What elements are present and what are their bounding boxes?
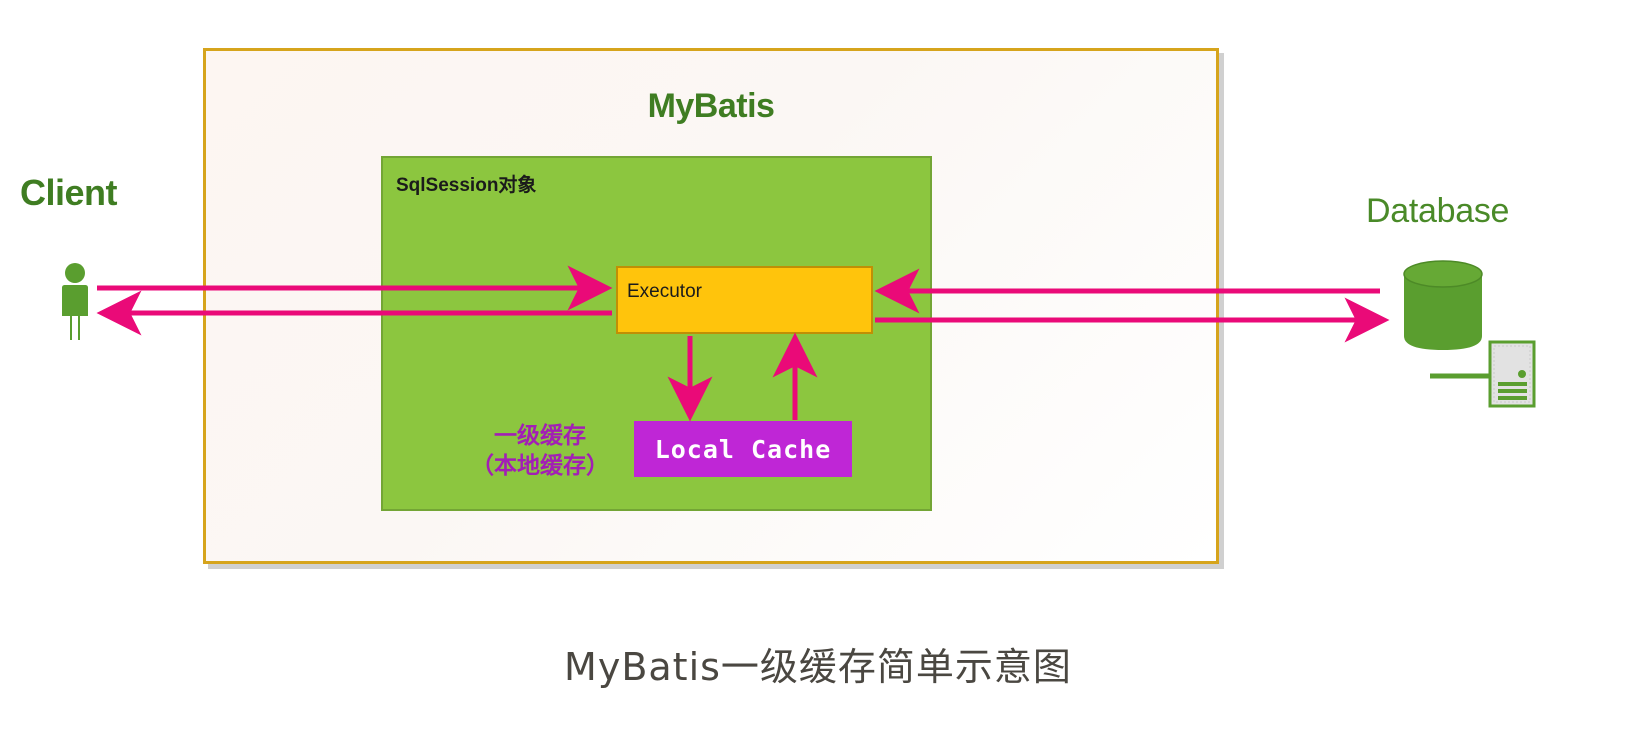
sqlsession-label: SqlSession对象 — [396, 170, 536, 197]
local-cache-label: Local Cache — [655, 435, 832, 464]
database-label: Database — [1366, 192, 1509, 231]
executor-box: Executor — [616, 266, 873, 334]
cache-annotation-line1: 一级缓存 — [452, 421, 628, 451]
diagram-caption: MyBatis一级缓存简单示意图 — [0, 636, 1636, 691]
cache-annotation: 一级缓存 （本地缓存） — [452, 421, 628, 481]
server-rack-icon — [1430, 338, 1540, 410]
person-icon — [52, 262, 98, 342]
local-cache-box: Local Cache — [634, 421, 852, 477]
mybatis-title: MyBatis — [206, 87, 1216, 126]
client-label: Client — [20, 172, 117, 214]
cache-annotation-line2: （本地缓存） — [452, 451, 628, 481]
executor-label: Executor — [627, 281, 702, 303]
